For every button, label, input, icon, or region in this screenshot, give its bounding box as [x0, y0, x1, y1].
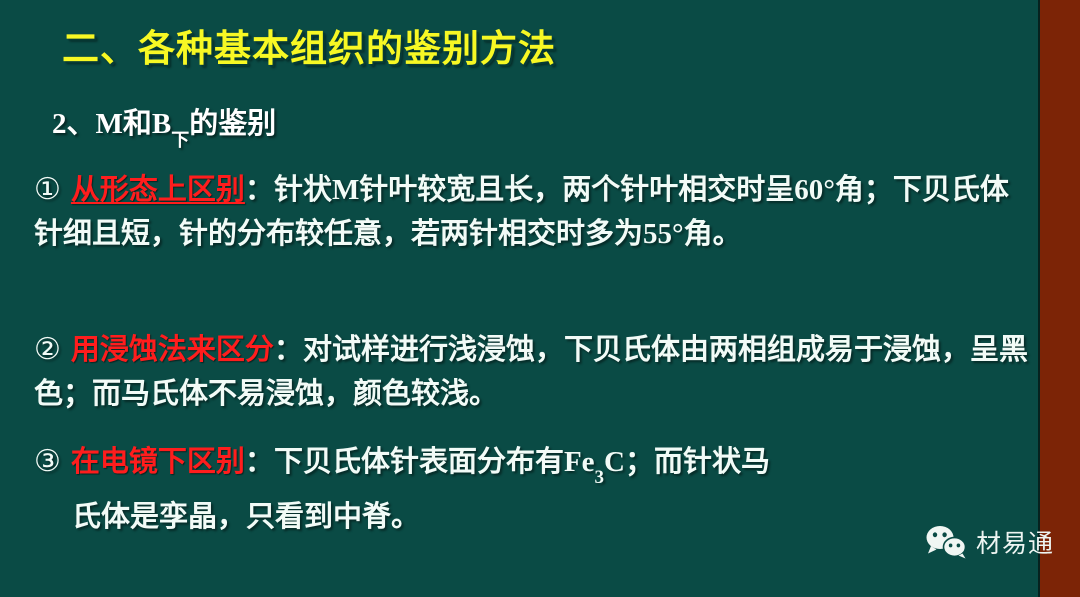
paragraph-3-body-c: 氏体是孪晶，只看到中脊。 — [34, 495, 420, 539]
slide-title: 二、各种基本组织的鉴别方法 — [62, 18, 556, 72]
paragraph-1-body-c: 角。 — [684, 218, 742, 250]
fe3c-subscript: 3 — [595, 467, 605, 488]
paragraph-3-body-a: 下贝氏体针表面分布有Fe — [274, 446, 595, 478]
paragraph-item-1: ①从形态上区别：针状M针叶较宽且长，两个针叶相交时呈60°角；下贝氏体针细且短，… — [34, 168, 1029, 256]
paragraph-3-body-b: C；而针状马 — [604, 446, 770, 478]
accent-strip — [1038, 0, 1080, 597]
wechat-icon — [925, 525, 967, 559]
paragraph-item-2: ②用浸蚀法来区分：对试样进行浅浸蚀，下贝氏体由两相组成易于浸蚀，呈黑色；而马氏体… — [34, 328, 1029, 416]
subheading-prefix: 2、M和B — [52, 108, 171, 140]
degree-symbol-60: ° — [823, 174, 835, 206]
list-marker-3: ③ — [34, 445, 71, 478]
slide-subheading: 2、M和B下的鉴别 — [52, 100, 276, 146]
watermark: 材易通 — [925, 524, 1054, 560]
paragraph-1-body-a: 针状M针叶较宽且长，两个针叶相交时呈60 — [274, 174, 823, 206]
presentation-slide: 二、各种基本组织的鉴别方法 2、M和B下的鉴别 ①从形态上区别：针状M针叶较宽且… — [0, 0, 1080, 597]
paragraph-item-3: ③在电镜下区别：下贝氏体针表面分布有Fe3C；而针状马氏体是孪晶，只看到中脊。 — [34, 440, 1029, 539]
keyword-morphology: 从形态上区别 — [71, 174, 245, 206]
colon-1: ： — [245, 174, 274, 206]
subheading-suffix: 的鉴别 — [189, 108, 276, 140]
subheading-subscript: 下 — [171, 130, 189, 150]
watermark-text: 材易通 — [976, 524, 1054, 560]
degree-symbol-55: ° — [672, 218, 684, 250]
list-marker-1: ① — [34, 173, 71, 206]
colon-2: ： — [274, 334, 303, 366]
keyword-electron-microscope: 在电镜下区别 — [71, 446, 245, 478]
keyword-etching: 用浸蚀法来区分 — [71, 334, 274, 366]
list-marker-2: ② — [34, 333, 71, 366]
colon-3: ： — [245, 446, 274, 478]
